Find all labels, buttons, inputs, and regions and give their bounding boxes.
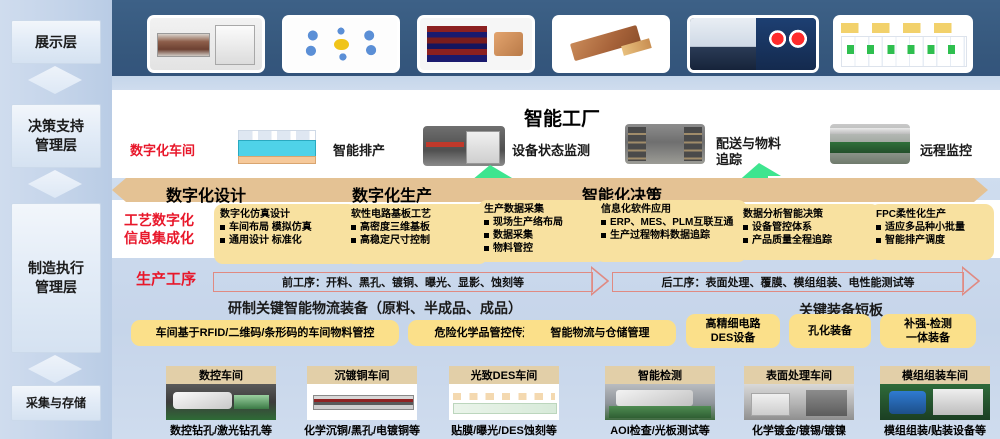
key-equipment-item-reinforce-inspection[interactable]: 补强-检测 一体装备 bbox=[880, 314, 976, 348]
front-process-arrow: 前工序：开料、黑孔、镀铜、曝光、显影、蚀刻等 bbox=[213, 266, 609, 296]
back-process-arrow: 后工序：表面处理、覆膜、模组组装、电性能测试等 bbox=[612, 266, 980, 296]
pillar-card-flex-substrate-process[interactable]: 软性电路基板工艺 高密度三维基板 高稳定尺寸控制 bbox=[345, 204, 488, 264]
pcb-layer-stack-photo bbox=[420, 18, 532, 70]
logistics-item-rfid-material-control-label: 车间基于RFID/二维码/条形码的车间物料管控 bbox=[156, 326, 375, 340]
layer-sidebar: 展示层 决策支持 管理层 制造执行 管理层 采集与存储 bbox=[0, 0, 112, 439]
pillar-card-simulation-design[interactable]: 数字化仿真设计 车间布局 模拟仿真 通用设计 标准化 bbox=[214, 204, 357, 264]
pillar-card-production-data-bullet-1: 数据采集 bbox=[484, 229, 600, 242]
network-topology-diagram-photo bbox=[285, 18, 397, 70]
pillar-card-software-application-bullet-1: 生产过程物料数据追踪 bbox=[601, 229, 741, 242]
logistics-item-hazardous-chemical-label: 危险化学品管控传送 bbox=[435, 326, 534, 340]
pillar-card-fpc-flexible-production-bullet-0: 适应多品种小批量 bbox=[876, 221, 988, 234]
workshop-card-copper-sub: 化学沉铜/黑孔/电镀铜等 bbox=[293, 422, 431, 438]
pillar-card-data-analysis-title: 数据分析智能决策 bbox=[743, 208, 874, 221]
production-process-label: 生产工序 bbox=[136, 271, 196, 290]
sidebar-diamond-2 bbox=[28, 170, 82, 198]
workshop-card-surface-caption: 表面处理车间 bbox=[744, 366, 854, 384]
workshop-card-assembly[interactable]: 模组组装车间 模组组装/贴装设备等 bbox=[880, 366, 990, 420]
process-flow-gantt-photo bbox=[836, 18, 970, 70]
cnc-drilling-machine-photo bbox=[150, 18, 262, 70]
workshop-card-aoi[interactable]: 智能检测 AOI检查/光板测试等 bbox=[605, 366, 715, 420]
key-equipment-item-des[interactable]: 高精细电路 DES设备 bbox=[686, 314, 780, 348]
logistics-item-smart-logistics-storage[interactable]: 智能物流与仓储管理 bbox=[524, 320, 676, 346]
aoi-inspection-photo bbox=[605, 384, 715, 420]
workshop-card-aoi-caption: 智能检测 bbox=[605, 366, 715, 384]
pillar-card-data-analysis-bullet-0: 设备管控体系 bbox=[743, 221, 874, 234]
sidebar-layer-decision-label-line2: 管理层 bbox=[28, 136, 84, 155]
pillar-card-fpc-flexible-production[interactable]: FPC柔性化生产 适应多品种小批量 智能排产调度 bbox=[870, 204, 994, 260]
pillar-card-flex-substrate-process-bullet-1: 高稳定尺寸控制 bbox=[351, 234, 482, 247]
key-equipment-item-reinforce-inspection-line2: 一体装备 bbox=[904, 331, 952, 345]
pillar-card-production-data-title: 生产数据采集 bbox=[484, 203, 600, 216]
production-line-photo bbox=[830, 124, 910, 164]
mes-architecture-diagram-photo-1 bbox=[233, 126, 319, 166]
pillar-card-simulation-design-bullet-1: 通用设计 标准化 bbox=[220, 234, 351, 247]
pillar-card-flex-substrate-process-title: 软性电路基板工艺 bbox=[351, 208, 482, 221]
workshop-card-cnc[interactable]: 数控车间 数控钻孔/激光钻孔等 bbox=[166, 366, 276, 420]
sidebar-layer-presentation-label: 展示层 bbox=[35, 33, 77, 52]
pillar-card-software-application-bullet-0: ERP、MES、PLM互联互通 bbox=[601, 216, 741, 229]
pillar-card-flex-substrate-process-bullet-0: 高密度三维基板 bbox=[351, 221, 482, 234]
pillar-card-software-application-title: 信息化软件应用 bbox=[601, 203, 741, 216]
workshop-card-assembly-sub: 模组组装/贴装设备等 bbox=[866, 422, 1000, 438]
workshop-card-cnc-caption: 数控车间 bbox=[166, 366, 276, 384]
decision-item-label-equipment-status: 设备状态监测 bbox=[512, 143, 590, 159]
workshop-card-copper-caption: 沉镀铜车间 bbox=[307, 366, 417, 384]
pillar-card-fpc-flexible-production-bullet-1: 智能排产调度 bbox=[876, 234, 988, 247]
workshop-card-surface-sub: 化学镀金/镀锡/镀镍 bbox=[730, 422, 868, 438]
sidebar-diamond-3 bbox=[28, 355, 82, 383]
fpc-flexible-circuit-photo bbox=[555, 18, 667, 70]
back-process-text: 后工序：表面处理、覆膜、模组组装、电性能测试等 bbox=[612, 273, 964, 291]
surface-treatment-photo bbox=[744, 384, 854, 420]
decision-item-label-remote-monitoring: 远程监控 bbox=[920, 143, 972, 159]
pillar-label-digital-design: 数字化设计 bbox=[166, 182, 246, 206]
logistics-item-rfid-material-control[interactable]: 车间基于RFID/二维码/条形码的车间物料管控 bbox=[131, 320, 399, 346]
workshop-card-des-caption: 光致DES车间 bbox=[449, 366, 559, 384]
decision-item-label-smart-scheduling: 智能排产 bbox=[333, 143, 385, 159]
sidebar-layer-mes-label-line2: 管理层 bbox=[28, 278, 84, 297]
process-digitization-line1: 工艺数字化 bbox=[124, 212, 194, 228]
pillars-band bbox=[126, 178, 974, 202]
warehouse-aisle-photo bbox=[625, 124, 705, 164]
sidebar-layer-acquisition-label: 采集与存储 bbox=[26, 395, 86, 411]
sidebar-layer-mes-label-line1: 制造执行 bbox=[28, 259, 84, 278]
cnc-drill-workshop-photo bbox=[166, 384, 276, 420]
workshop-card-aoi-sub: AOI检查/光板测试等 bbox=[591, 422, 729, 438]
pillar-card-fpc-flexible-production-title: FPC柔性化生产 bbox=[876, 208, 988, 221]
logistics-item-smart-logistics-storage-label: 智能物流与仓储管理 bbox=[551, 326, 650, 340]
module-assembly-photo bbox=[880, 384, 990, 420]
pillar-label-digital-production: 数字化生产 bbox=[352, 182, 432, 206]
pillar-card-simulation-design-title: 数字化仿真设计 bbox=[220, 208, 351, 221]
key-equipment-item-des-line2: DES设备 bbox=[706, 331, 761, 345]
pillar-card-software-application[interactable]: 信息化软件应用 ERP、MES、PLM互联互通 生产过程物料数据追踪 bbox=[595, 200, 747, 262]
pillar-card-data-analysis[interactable]: 数据分析智能决策 设备管控体系 产品质量全程追踪 bbox=[737, 204, 880, 260]
sidebar-diamond-1 bbox=[28, 66, 82, 94]
sidebar-layer-acquisition[interactable]: 采集与存储 bbox=[11, 385, 101, 421]
key-equipment-item-hole-forming-line1: 孔化装备 bbox=[808, 324, 852, 338]
pillar-card-simulation-design-bullet-0: 车间布局 模拟仿真 bbox=[220, 221, 351, 234]
key-equipment-item-hole-forming[interactable]: 孔化装备 bbox=[789, 314, 871, 348]
pillar-card-production-data-bullet-0: 现场生产络布局 bbox=[484, 216, 600, 229]
sidebar-layer-decision-label-line1: 决策支持 bbox=[28, 117, 84, 136]
smart-factory-title: 智能工厂 bbox=[524, 104, 600, 131]
production-equipment-photo bbox=[423, 126, 505, 166]
key-equipment-item-reinforce-inspection-line1: 补强-检测 bbox=[904, 317, 952, 331]
process-digitization-label: 工艺数字化 信息集成化 bbox=[124, 212, 194, 247]
scada-monitoring-screens-photo bbox=[690, 18, 816, 70]
smart-factory-architecture-diagram: 展示层 决策支持 管理层 制造执行 管理层 采集与存储 智能工厂 数字化车间 智… bbox=[0, 0, 1000, 439]
sidebar-layer-mes[interactable]: 制造执行 管理层 bbox=[11, 203, 101, 353]
workshop-card-copper[interactable]: 沉镀铜车间 化学沉铜/黑孔/电镀铜等 bbox=[307, 366, 417, 420]
pillar-card-production-data[interactable]: 生产数据采集 现场生产络布局 数据采集 物料管控 bbox=[478, 200, 606, 262]
pillar-card-data-analysis-bullet-1: 产品质量全程追踪 bbox=[743, 234, 874, 247]
workshop-card-cnc-sub: 数控钻孔/激光钻孔等 bbox=[152, 422, 290, 438]
key-equipment-item-des-line1: 高精细电路 bbox=[706, 317, 761, 331]
workshop-card-des[interactable]: 光致DES车间 贴膜/曝光/DES蚀刻等 bbox=[449, 366, 559, 420]
logistics-equipment-title: 研制关键智能物流装备（原料、半成品、成品） bbox=[228, 300, 522, 318]
des-process-diagram-photo bbox=[449, 384, 559, 420]
workshop-card-surface[interactable]: 表面处理车间 化学镀金/镀锡/镀镍 bbox=[744, 366, 854, 420]
front-process-text: 前工序：开料、黑孔、镀铜、曝光、显影、蚀刻等 bbox=[213, 273, 593, 291]
decision-item-label-digital-workshop: 数字化车间 bbox=[130, 143, 195, 159]
sidebar-layer-presentation[interactable]: 展示层 bbox=[11, 20, 101, 64]
process-digitization-line2: 信息集成化 bbox=[124, 230, 194, 246]
workshop-card-des-sub: 贴膜/曝光/DES蚀刻等 bbox=[435, 422, 573, 438]
workshop-card-assembly-caption: 模组组装车间 bbox=[880, 366, 990, 384]
copper-plating-line-photo bbox=[307, 384, 417, 420]
pillar-card-production-data-bullet-2: 物料管控 bbox=[484, 242, 600, 255]
sidebar-layer-decision[interactable]: 决策支持 管理层 bbox=[11, 104, 101, 168]
